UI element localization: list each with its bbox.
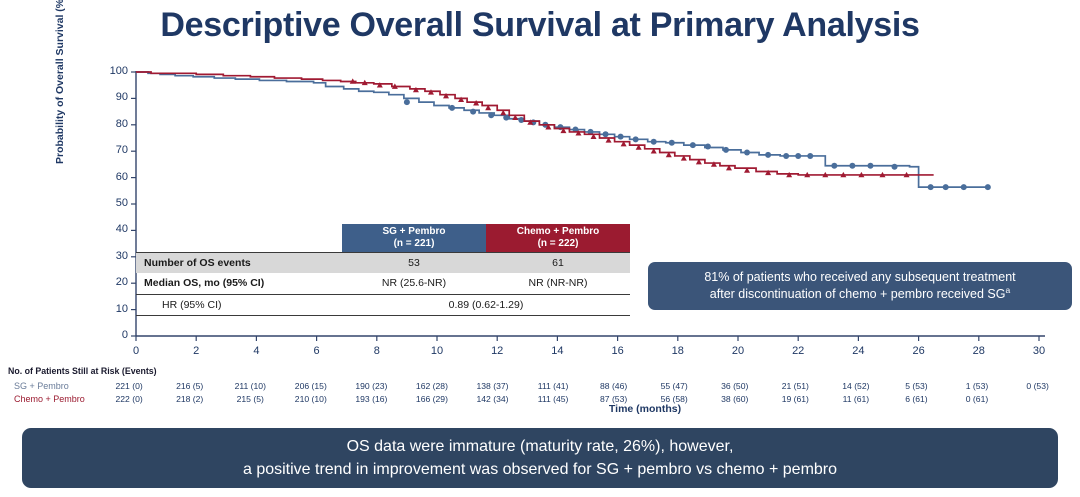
at-risk-cell: 222 (0) xyxy=(99,392,160,405)
at-risk-cell: 87 (53) xyxy=(583,392,644,405)
stats-row-median-label: Median OS, mo (95% CI) xyxy=(136,273,342,294)
x-tick-24: 24 xyxy=(838,345,878,357)
y-tick-50: 50 xyxy=(94,197,128,209)
at-risk-cell: 166 (29) xyxy=(402,392,463,405)
subsequent-treatment-callout: 81% of patients who received any subsequ… xyxy=(648,262,1072,310)
censor-marker xyxy=(503,115,509,121)
stats-row-hr: HR (95% CI) 0.89 (0.62-1.29) xyxy=(136,294,630,315)
stats-row-median-chemo: NR (NR-NR) xyxy=(486,273,630,294)
at-risk-cell: 5 (53) xyxy=(886,379,947,392)
x-tick-8: 8 xyxy=(357,345,397,357)
x-tick-18: 18 xyxy=(658,345,698,357)
stats-header-sg-n: (n = 221) xyxy=(342,238,486,250)
censor-marker xyxy=(928,184,934,190)
x-tick-6: 6 xyxy=(297,345,337,357)
at-risk-cell: 218 (2) xyxy=(159,392,220,405)
censor-marker xyxy=(404,99,410,105)
censor-marker xyxy=(892,164,898,170)
y-tick-90: 90 xyxy=(94,91,128,103)
at-risk-cell: 21 (51) xyxy=(765,379,826,392)
y-tick-0: 0 xyxy=(94,329,128,341)
y-axis-label: Probability of Overall Survival (%) xyxy=(54,0,66,164)
censor-marker xyxy=(765,152,771,158)
at-risk-cell: 162 (28) xyxy=(402,379,463,392)
x-tick-14: 14 xyxy=(537,345,577,357)
at-risk-cell: 1 (53) xyxy=(947,379,1008,392)
stats-row-events: Number of OS events 53 61 xyxy=(136,252,630,273)
censor-marker xyxy=(633,136,639,142)
at-risk-cell: 193 (16) xyxy=(341,392,402,405)
at-risk-row: SG + Pembro221 (0)216 (5)211 (10)206 (15… xyxy=(8,379,1068,392)
x-tick-16: 16 xyxy=(598,345,638,357)
y-tick-40: 40 xyxy=(94,223,128,235)
stats-header-chemo-label: Chemo + Pembro xyxy=(486,226,630,238)
censor-marker xyxy=(711,161,717,166)
at-risk-row-label: Chemo + Pembro xyxy=(8,392,99,405)
censor-marker xyxy=(470,109,476,115)
stats-row-hr-label: HR (95% CI) xyxy=(136,294,342,315)
statistics-table: SG + Pembro (n = 221) Chemo + Pembro (n … xyxy=(136,224,630,316)
at-risk-cell: 6 (61) xyxy=(886,392,947,405)
at-risk-cell: 190 (23) xyxy=(341,379,402,392)
censor-marker xyxy=(867,163,873,169)
at-risk-cell: 210 (10) xyxy=(281,392,342,405)
y-tick-100: 100 xyxy=(94,65,128,77)
at-risk-cell: 11 (61) xyxy=(826,392,887,405)
censor-marker xyxy=(744,150,750,156)
censor-marker xyxy=(705,143,711,149)
censor-marker xyxy=(690,142,696,148)
censor-marker xyxy=(618,134,624,140)
x-tick-4: 4 xyxy=(236,345,276,357)
x-tick-12: 12 xyxy=(477,345,517,357)
at-risk-cell: 216 (5) xyxy=(159,379,220,392)
at-risk-cell: 0 (61) xyxy=(947,392,1008,405)
censor-marker xyxy=(669,140,675,146)
y-tick-60: 60 xyxy=(94,171,128,183)
at-risk-cell: 221 (0) xyxy=(99,379,160,392)
censor-marker xyxy=(651,139,657,145)
at-risk-cell: 215 (5) xyxy=(220,392,281,405)
stats-header-row: SG + Pembro (n = 221) Chemo + Pembro (n … xyxy=(136,224,630,252)
stats-row-events-sg: 53 xyxy=(342,252,486,273)
stats-row-events-label: Number of OS events xyxy=(136,252,342,273)
censor-marker xyxy=(831,163,837,169)
callout-line-1: 81% of patients who received any subsequ… xyxy=(704,270,1015,284)
slide-root: Descriptive Overall Survival at Primary … xyxy=(0,0,1080,497)
x-tick-22: 22 xyxy=(778,345,818,357)
at-risk-table-title: No. of Patients Still at Risk (Events) xyxy=(8,366,1072,376)
censor-marker xyxy=(488,112,494,118)
at-risk-cell: 0 (53) xyxy=(1007,379,1068,392)
stats-header-chemo-n: (n = 222) xyxy=(486,238,630,250)
censor-marker xyxy=(985,184,991,190)
at-risk-cell: 56 (58) xyxy=(644,392,705,405)
stats-row-events-chemo: 61 xyxy=(486,252,630,273)
conclusion-banner: OS data were immature (maturity rate, 26… xyxy=(22,428,1058,488)
censor-marker xyxy=(518,117,524,123)
x-tick-20: 20 xyxy=(718,345,758,357)
callout-line-2: after discontinuation of chemo + pembro … xyxy=(710,288,1006,302)
y-tick-30: 30 xyxy=(94,250,128,262)
at-risk-cell: 111 (45) xyxy=(523,392,584,405)
y-tick-80: 80 xyxy=(94,118,128,130)
at-risk-cell: 111 (41) xyxy=(523,379,584,392)
callout-footnote-marker: a xyxy=(1005,285,1010,295)
stats-row-hr-value: 0.89 (0.62-1.29) xyxy=(342,294,630,315)
censor-marker xyxy=(783,153,789,159)
x-tick-30: 30 xyxy=(1019,345,1059,357)
at-risk-row: Chemo + Pembro222 (0)218 (2)215 (5)210 (… xyxy=(8,392,1068,405)
at-risk-cell: 36 (50) xyxy=(704,379,765,392)
y-tick-10: 10 xyxy=(94,303,128,315)
at-risk-cell: 14 (52) xyxy=(826,379,887,392)
censor-marker xyxy=(603,131,609,137)
censor-marker xyxy=(377,82,383,87)
censor-marker xyxy=(961,184,967,190)
x-tick-28: 28 xyxy=(959,345,999,357)
banner-line-1: OS data were immature (maturity rate, 26… xyxy=(347,435,734,458)
stats-header-blank xyxy=(136,224,342,252)
at-risk-cell: 211 (10) xyxy=(220,379,281,392)
at-risk-cell: 55 (47) xyxy=(644,379,705,392)
censor-marker xyxy=(943,184,949,190)
stats-row-median: Median OS, mo (95% CI) NR (25.6-NR) NR (… xyxy=(136,273,630,294)
at-risk-cell: 88 (46) xyxy=(583,379,644,392)
at-risk-table: No. of Patients Still at Risk (Events) S… xyxy=(8,366,1072,405)
censor-marker xyxy=(849,163,855,169)
censor-marker xyxy=(807,153,813,159)
x-tick-10: 10 xyxy=(417,345,457,357)
censor-marker xyxy=(723,147,729,153)
stats-header-sg-label: SG + Pembro xyxy=(342,226,486,238)
censor-marker xyxy=(458,97,464,102)
censor-marker xyxy=(449,105,455,111)
censor-marker xyxy=(795,153,801,159)
at-risk-cell: 19 (61) xyxy=(765,392,826,405)
at-risk-cell: 142 (34) xyxy=(462,392,523,405)
x-tick-0: 0 xyxy=(116,345,156,357)
stats-header-chemo: Chemo + Pembro (n = 222) xyxy=(486,224,630,252)
x-tick-2: 2 xyxy=(176,345,216,357)
x-tick-26: 26 xyxy=(899,345,939,357)
censor-marker xyxy=(443,93,449,98)
at-risk-row-label: SG + Pembro xyxy=(8,379,99,392)
at-risk-cell: 206 (15) xyxy=(281,379,342,392)
at-risk-cell xyxy=(1007,392,1068,405)
at-risk-cell: 138 (37) xyxy=(462,379,523,392)
at-risk-cell: 38 (60) xyxy=(704,392,765,405)
censor-marker xyxy=(765,170,771,175)
page-title: Descriptive Overall Survival at Primary … xyxy=(0,6,1080,45)
stats-row-median-sg: NR (25.6-NR) xyxy=(342,273,486,294)
stats-header-sg: SG + Pembro (n = 221) xyxy=(342,224,486,252)
banner-line-2: a positive trend in improvement was obse… xyxy=(243,458,837,481)
y-tick-20: 20 xyxy=(94,276,128,288)
y-tick-70: 70 xyxy=(94,144,128,156)
